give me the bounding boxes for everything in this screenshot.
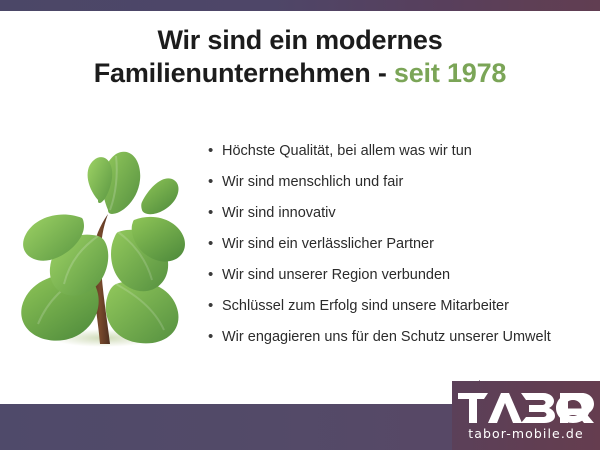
list-item: • Wir sind unserer Region verbunden (208, 265, 598, 296)
page-title: Wir sind ein modernes Familienunternehme… (0, 24, 600, 90)
list-item: • Wir sind ein verlässlicher Partner (208, 234, 598, 265)
list-item: • Schlüssel zum Erfolg sind unsere Mitar… (208, 296, 598, 327)
list-item-label: Wir sind innovativ (222, 203, 336, 223)
list-item: • Wir sind menschlich und fair (208, 172, 598, 203)
bullet-dot-icon: • (208, 172, 222, 192)
bullet-dot-icon: • (208, 265, 222, 285)
benefits-list: • Höchste Qualität, bei allem was wir tu… (208, 141, 598, 358)
list-item-label: Wir sind ein verlässlicher Partner (222, 234, 434, 254)
headline-line-2: Familienunternehmen - seit 1978 (0, 57, 600, 90)
promotional-slide: Wir sind ein modernes Familienunternehme… (0, 0, 600, 450)
bullet-dot-icon: • (208, 203, 222, 223)
list-item-label: Wir sind menschlich und fair (222, 172, 403, 192)
bullet-dot-icon: • (208, 327, 222, 347)
list-item-label: Wir sind unserer Region verbunden (222, 265, 450, 285)
top-accent-bar (0, 0, 600, 11)
logo-tagline: tabor-mobile.de (468, 426, 584, 441)
list-item: • Wir sind innovativ (208, 203, 598, 234)
bullet-dot-icon: • (208, 296, 222, 316)
headline-accent-since-1978: seit 1978 (394, 58, 506, 88)
headline-line-1: Wir sind ein modernes (0, 24, 600, 57)
brand-logo[interactable]: tabor-mobile.de (452, 381, 600, 450)
logo-wordmark (458, 393, 594, 423)
footer-bar-left (0, 404, 450, 450)
tree-illustration (12, 148, 187, 353)
bullet-dot-icon: • (208, 141, 222, 161)
list-item: • Höchste Qualität, bei allem was wir tu… (208, 141, 598, 172)
list-item-label: Wir engagieren uns für den Schutz unsere… (222, 327, 551, 347)
bullet-dot-icon: • (208, 234, 222, 254)
list-item: • Wir engagieren uns für den Schutz unse… (208, 327, 598, 358)
list-item-label: Höchste Qualität, bei allem was wir tun (222, 141, 472, 161)
list-item-label: Schlüssel zum Erfolg sind unsere Mitarbe… (222, 296, 509, 316)
headline-line-2-main: Familienunternehmen - (94, 58, 394, 88)
